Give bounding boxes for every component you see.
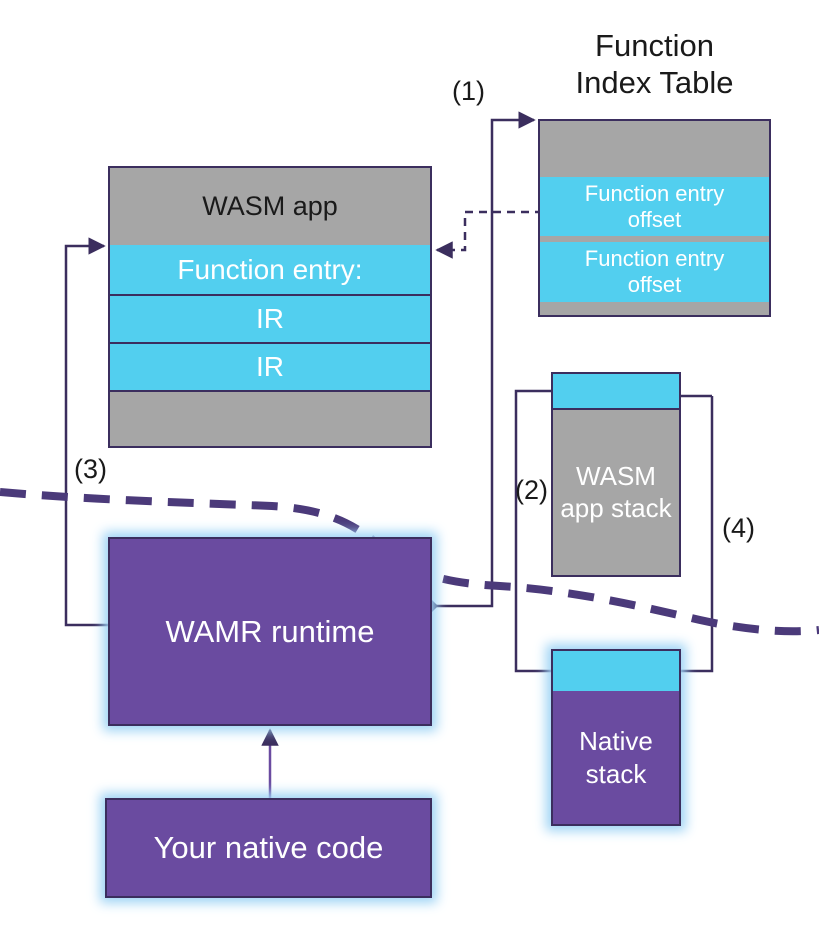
step-label-3: (3) xyxy=(74,456,107,483)
fit-row-0 xyxy=(540,121,769,177)
wasm-app-stack-box: WASM app stack xyxy=(551,372,681,577)
wasm-app-stack-top-band xyxy=(553,374,679,410)
step-label-4: (4) xyxy=(722,515,755,542)
wasm-app-ir-label-1: IR xyxy=(256,303,284,335)
wasm-app-box: WASM app Function entry: IR IR xyxy=(108,166,432,448)
step-label-2: (2) xyxy=(515,477,548,504)
wasm-app-row-2: IR xyxy=(110,296,430,344)
fit-row-1-label: Function entry offset xyxy=(580,181,730,232)
function-index-table-title: Function Index Table xyxy=(538,28,771,101)
wamr-runtime-box: WAMR runtime xyxy=(108,537,432,726)
native-stack-top-band xyxy=(553,651,679,691)
wasm-app-title: WASM app xyxy=(202,191,338,222)
fit-row-1: Function entry offset xyxy=(540,177,769,236)
your-native-code-box: Your native code xyxy=(105,798,432,898)
wamr-runtime-label: WAMR runtime xyxy=(166,614,375,650)
native-stack-box: Native stack xyxy=(551,649,681,826)
fit-row-3: Function entry offset xyxy=(540,242,769,302)
wasm-app-ir-label-2: IR xyxy=(256,351,284,383)
wasm-app-stack-body: WASM app stack xyxy=(553,410,679,575)
native-stack-label: Native stack xyxy=(579,725,653,790)
wasm-app-stack-label: WASM app stack xyxy=(560,461,671,523)
wasm-app-function-entry-label: Function entry: xyxy=(177,254,362,286)
connector-1 xyxy=(424,120,534,613)
function-index-table: Function entry offset Function entry off… xyxy=(538,119,771,317)
step-label-1: (1) xyxy=(452,78,485,105)
diagram-canvas: Function Index Table Function entry offs… xyxy=(0,0,819,925)
native-stack-body: Native stack xyxy=(553,691,679,824)
fit-row-4 xyxy=(540,302,769,315)
wasm-app-row-1: Function entry: xyxy=(110,245,430,296)
wasm-app-row-3: IR xyxy=(110,344,430,392)
fit-row-3-label: Function entry offset xyxy=(580,246,730,297)
your-native-code-label: Your native code xyxy=(154,830,384,866)
connector-3 xyxy=(66,246,108,625)
wasm-app-row-0: WASM app xyxy=(110,168,430,245)
wasm-app-row-4 xyxy=(110,392,430,446)
